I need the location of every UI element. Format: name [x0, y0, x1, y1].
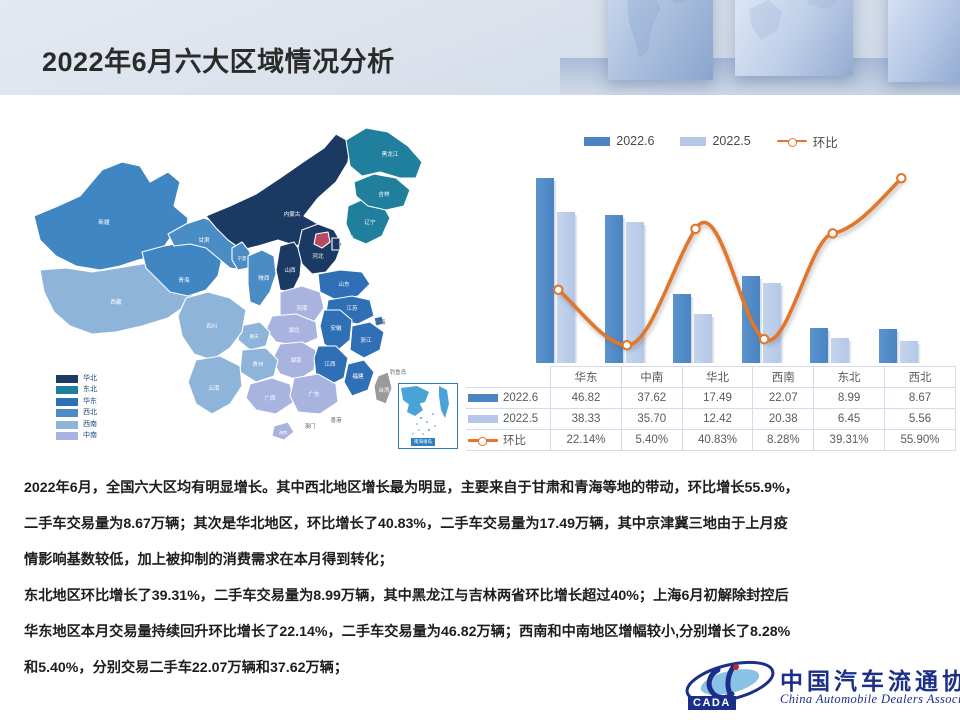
map-label-yunnan: 云南	[208, 384, 220, 392]
map-label-ningxia: 宁夏	[238, 255, 247, 261]
bar-2022-6-zhongnan[interactable]	[605, 215, 623, 363]
table-row-header-huanbi: 环比	[466, 430, 551, 451]
cada-abbr-badge: CADA	[688, 696, 736, 710]
bar-group-huabei	[661, 158, 730, 363]
table-col-header-zhongnan: 中南	[621, 367, 682, 388]
map-label-guizhou: 贵州	[252, 360, 263, 368]
legend-swatch-xinan	[56, 421, 78, 429]
legend-swatch-dongbei	[56, 386, 78, 394]
logo-chinese-name: 中国汽车流通协会	[780, 662, 960, 696]
row-line-marker-icon	[468, 436, 498, 444]
legend-label-huanbi: 环比	[813, 132, 838, 151]
bar-2022-5-huadong[interactable]	[557, 212, 575, 363]
table-row-header-2022-5: 2022.5	[466, 409, 551, 430]
decorative-cube-center	[735, 0, 853, 76]
cell-2022-5-xibei: 5.56	[885, 409, 956, 430]
cell-2022-6-xinan: 22.07	[753, 388, 814, 409]
table-col-header-dongbei: 东北	[814, 367, 885, 388]
map-label-xinjiang: 新疆	[98, 218, 110, 226]
page-title: 2022年6月六大区域情况分析	[42, 40, 395, 79]
cell-2022-5-xinan: 20.38	[753, 409, 814, 430]
cell-huanbi-huadong: 22.14%	[551, 430, 622, 451]
map-label-liaoning: 辽宁	[364, 218, 376, 226]
table-row-header-2022-6: 2022.6	[466, 388, 551, 409]
province-yunnan	[188, 356, 242, 414]
slide-root: 2022年6月六大区域情况分析	[0, 0, 960, 720]
map-label-hainan: 海南	[279, 429, 287, 435]
row-label-2022-5: 2022.5	[503, 413, 538, 425]
cell-2022-6-xibei: 8.67	[885, 388, 956, 409]
map-label-chongqing: 重庆	[249, 333, 259, 340]
cell-2022-5-dongbei: 6.45	[814, 409, 885, 430]
china-region-map: 新疆 西藏 青海 甘肃 内蒙古 宁夏 陕西 山西 河北 辽宁 吉林 黑龙江 山东…	[18, 120, 470, 460]
table-col-header-huadong: 华东	[551, 367, 622, 388]
bar-group-dongbei	[798, 158, 867, 363]
cell-2022-6-huadong: 46.82	[551, 388, 622, 409]
table-col-header-xinan: 西南	[753, 367, 814, 388]
map-legend-item: 西南	[56, 419, 136, 431]
map-legend: 华北 东北 华东 西北 西南 中南	[56, 373, 136, 442]
header-banner: 2022年6月六大区域情况分析	[0, 0, 960, 95]
map-label-macau: 澳门	[305, 422, 316, 430]
legend-line-marker-icon	[777, 137, 807, 146]
map-label-hebei: 河北	[312, 252, 324, 260]
cell-huanbi-xibei: 55.90%	[885, 430, 956, 451]
header-divider	[0, 95, 960, 98]
bar-2022-6-huadong[interactable]	[536, 178, 554, 363]
map-label-fujian: 福建	[352, 372, 364, 380]
cell-huanbi-dongbei: 39.31%	[814, 430, 885, 451]
map-label-qinghai: 青海	[178, 276, 190, 284]
south-china-sea-inset-map: 南海诸岛	[398, 383, 458, 449]
cell-2022-6-dongbei: 8.99	[814, 388, 885, 409]
map-label-hongkong: 香港	[331, 416, 342, 424]
bar-2022-5-zhongnan[interactable]	[626, 222, 644, 363]
map-label-sichuan: 四川	[206, 323, 217, 330]
map-label-shandong: 山东	[338, 280, 350, 288]
bar-2022-5-huabei[interactable]	[694, 314, 712, 363]
inset-map-svg	[399, 384, 455, 446]
map-label-shaanxi: 陕西	[258, 274, 270, 282]
table-col-header-huabei: 华北	[682, 367, 753, 388]
table-row-2022-5: 2022.5 38.33 35.70 12.42 20.38 6.45 5.56	[466, 409, 956, 430]
decorative-cube-left	[608, 0, 713, 80]
cada-logo: CADA 中国汽车流通协会 China Automobile Dealers A…	[684, 658, 950, 714]
analysis-line-2: 二手车交易量为8.67万辆；其次是华北地区，环比增长了40.83%，二手车交易量…	[24, 506, 940, 542]
map-label-shanghai: 上海	[375, 318, 386, 326]
logo-english-name: China Automobile Dealers Association	[780, 692, 960, 707]
legend-label-2022-5: 2022.5	[712, 134, 750, 148]
cell-huanbi-xinan: 8.28%	[753, 430, 814, 451]
map-legend-item: 中南	[56, 431, 136, 443]
chart-plot-area	[524, 158, 936, 363]
province-tianjin	[332, 238, 340, 250]
row-swatch-2022-6	[468, 394, 498, 402]
legend-swatch-2022-6	[584, 137, 610, 146]
bar-2022-5-xibei[interactable]	[900, 341, 918, 363]
cell-huanbi-huabei: 40.83%	[682, 430, 753, 451]
bar-group-xibei	[867, 158, 936, 363]
map-label-neimenggu: 内蒙古	[284, 210, 301, 218]
map-legend-item: 华北	[56, 373, 136, 385]
analysis-line-3: 情影响基数较低，加上被抑制的消费需求在本月得到转化；	[24, 542, 940, 578]
legend-swatch-xibei	[56, 409, 78, 417]
table-header-row: 华东 中南 华北 西南 东北 西北	[466, 367, 956, 388]
world-map-texture-icon	[608, 0, 713, 78]
map-label-zhejiang: 浙江	[360, 336, 372, 344]
map-label-tianjin: 天津	[343, 235, 354, 242]
cell-huanbi-zhongnan: 5.40%	[621, 430, 682, 451]
inset-map-caption: 南海诸岛	[411, 438, 435, 446]
analysis-line-1: 2022年6月，全国六大区均有明显增长。其中西北地区增长最为明显，主要来自于甘肃…	[24, 470, 940, 506]
map-label-guangxi: 广西	[264, 394, 276, 402]
map-legend-item: 东北	[56, 385, 136, 397]
legend-label-2022-6: 2022.6	[616, 134, 654, 148]
legend-swatch-huadong	[56, 398, 78, 406]
row-swatch-2022-5	[468, 415, 498, 423]
map-label-shanxi: 山西	[284, 266, 296, 274]
decorative-cube-right	[888, 0, 960, 82]
cell-2022-5-huadong: 38.33	[551, 409, 622, 430]
map-label-jiangsu: 江苏	[346, 304, 358, 312]
bar-2022-6-xibei[interactable]	[879, 329, 897, 363]
row-label-huanbi: 环比	[503, 432, 526, 448]
row-label-2022-6: 2022.6	[503, 392, 538, 404]
analysis-text: 2022年6月，全国六大区均有明显增长。其中西北地区增长最为明显，主要来自于甘肃…	[24, 470, 940, 686]
chart-legend-item-huanbi[interactable]: 环比	[777, 132, 838, 151]
map-label-taiwan: 台湾	[379, 386, 390, 394]
bar-group-xinan	[730, 158, 799, 363]
cell-2022-6-huabei: 17.49	[682, 388, 753, 409]
map-label-gansu: 甘肃	[198, 236, 210, 244]
map-label-henan: 河南	[296, 304, 308, 312]
legend-swatch-2022-5	[680, 137, 706, 146]
bar-group-zhongnan	[593, 158, 662, 363]
legend-label-xinan: 西南	[83, 421, 97, 429]
legend-label-zhongnan: 中南	[83, 432, 97, 440]
table-col-header-xibei: 西北	[885, 367, 956, 388]
legend-label-dongbei: 东北	[83, 386, 97, 394]
chart-legend-item-2022-5[interactable]: 2022.5	[680, 134, 750, 148]
table-row-huanbi: 环比 22.14% 5.40% 40.83% 8.28% 39.31% 55.9…	[466, 430, 956, 451]
map-label-jilin: 吉林	[378, 190, 390, 198]
bar-2022-5-xinan[interactable]	[763, 283, 781, 363]
cell-2022-6-zhongnan: 37.62	[621, 388, 682, 409]
table-corner-cell	[466, 367, 551, 388]
map-legend-item: 西北	[56, 408, 136, 420]
chart-data-table: 华东 中南 华北 西南 东北 西北 2022.6 46.82 37.62 17.…	[466, 366, 956, 451]
world-map-texture-icon	[735, 0, 853, 78]
legend-label-huadong: 华东	[83, 398, 97, 406]
bar-2022-6-xinan[interactable]	[742, 276, 760, 363]
chart-legend: 2022.6 2022.5 环比	[466, 128, 956, 154]
map-label-anhui: 安徽	[330, 324, 342, 332]
map-label-guangdong: 广东	[308, 390, 320, 398]
legend-swatch-zhongnan	[56, 432, 78, 440]
bar-2022-6-dongbei[interactable]	[810, 328, 828, 364]
map-legend-item: 华东	[56, 396, 136, 408]
legend-swatch-huabei	[56, 375, 78, 383]
chart-legend-item-2022-6[interactable]: 2022.6	[584, 134, 654, 148]
bar-2022-6-huabei[interactable]	[673, 294, 691, 363]
map-label-xizang: 西藏	[110, 298, 122, 306]
bar-2022-5-dongbei[interactable]	[831, 338, 849, 363]
map-label-diaoyudao: 钓鱼岛	[390, 368, 406, 376]
legend-label-huabei: 华北	[83, 375, 97, 383]
analysis-line-4: 东北地区环比增长了39.31%，二手车交易量为8.99万辆，其中黑龙江与吉林两省…	[24, 578, 940, 614]
bar-group-huadong	[524, 158, 593, 363]
map-label-hubei: 湖北	[288, 326, 300, 334]
cell-2022-5-zhongnan: 35.70	[621, 409, 682, 430]
map-label-hunan: 湖南	[290, 356, 302, 364]
map-label-jiangxi: 江西	[324, 361, 336, 368]
map-label-heilongjiang: 黑龙江	[382, 150, 399, 158]
table-row-2022-6: 2022.6 46.82 37.62 17.49 22.07 8.99 8.67	[466, 388, 956, 409]
cell-2022-5-huabei: 12.42	[682, 409, 753, 430]
analysis-line-5: 华东地区本月交易量持续回升环比增长了22.14%，二手车交易量为46.82万辆；…	[24, 614, 940, 650]
legend-label-xibei: 西北	[83, 409, 97, 417]
